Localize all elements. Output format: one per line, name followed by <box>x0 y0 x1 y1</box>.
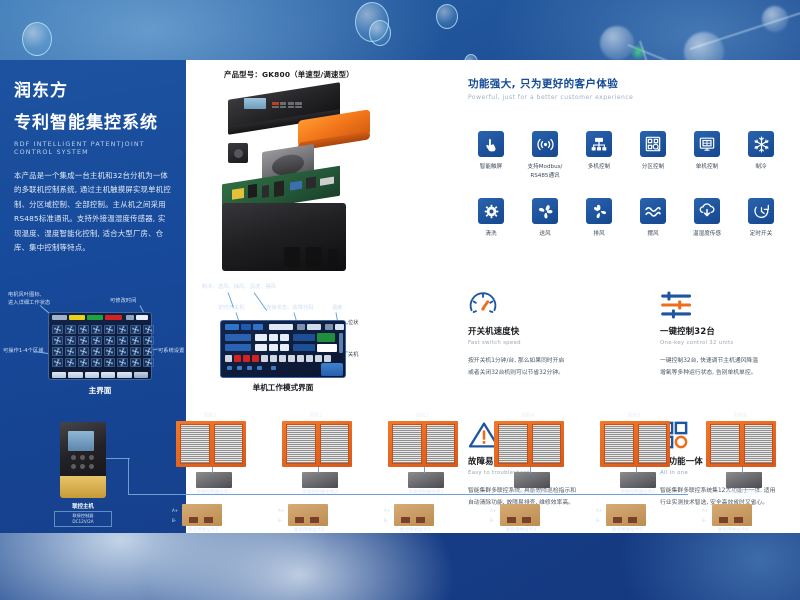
callout-unit-temp: 温度 <box>332 305 343 313</box>
callout-unit-level: 位状 <box>348 320 359 328</box>
fan-cell[interactable] <box>104 325 115 334</box>
feature-icon-clean[interactable]: 清洗 <box>468 198 514 239</box>
callout-main-right: 可系统设置 <box>158 348 184 356</box>
fan-cell[interactable] <box>143 347 154 356</box>
features-subtitle: Powerful, just for a better customer exp… <box>468 94 784 101</box>
fan-cell[interactable] <box>78 358 89 367</box>
status-chip <box>307 324 321 330</box>
segment[interactable] <box>324 355 331 362</box>
host-caption: 联控主机 <box>52 502 114 510</box>
fan-cell[interactable] <box>78 347 89 356</box>
fan-cell[interactable] <box>65 336 76 345</box>
fan-cell[interactable] <box>117 347 128 356</box>
address-card <box>500 504 540 526</box>
card-label: 集控用地址卡4 <box>488 528 554 534</box>
status-ok-badge <box>317 333 335 342</box>
brand-name: 润东方 <box>14 76 172 101</box>
feature-title: 一键控制32台 <box>660 325 800 337</box>
controller-label: 单速控制器主机4 <box>494 490 570 496</box>
segment[interactable] <box>261 355 268 362</box>
terminal-b: B- <box>172 518 176 523</box>
icon-row-2: 清洗 送风 <box>468 198 784 239</box>
fan-exhaust-icon <box>586 198 612 224</box>
screen-button[interactable] <box>117 372 131 378</box>
feature-description: 按开关机1分钟/台, 那么如果同时开启 或者关闭32台机则可以节省32分钟。 <box>468 355 638 379</box>
main-screen-figure: 电机风叶图标, 进入详细工作状态 可修改时间 可操作1-4个区域 可系统设置 <box>0 290 186 410</box>
fan-cell[interactable] <box>91 358 102 367</box>
product-base-enclosure <box>222 203 346 271</box>
timer-button[interactable] <box>225 344 251 351</box>
host-controller <box>60 422 106 498</box>
icon-label: 排风 <box>576 230 622 239</box>
unit-controller <box>302 472 338 488</box>
feature-title: 开关机速度快 <box>468 325 638 337</box>
status-field <box>269 324 293 330</box>
terminal-a: A+ <box>278 508 284 513</box>
feature-block-onekey-control: 一键控制32台 One-key control 32 units 一键控制32台… <box>660 285 800 379</box>
fan-cell[interactable] <box>104 336 115 345</box>
gear-clean-icon <box>478 198 504 224</box>
page-subtitle-en: RDF INTELLIGENT PATENTJOINT CONTROL SYST… <box>14 140 172 156</box>
fan-cell[interactable] <box>104 358 115 367</box>
wireless-signal-icon <box>532 131 558 157</box>
dot <box>227 366 232 370</box>
value-field <box>269 334 278 341</box>
terminal-b: B- <box>596 518 600 523</box>
feature-title-en: One-key control 32 units <box>660 340 800 346</box>
fan-label: 风机6 <box>710 412 770 419</box>
host-base <box>60 476 106 498</box>
callout-unit-power: 关机 <box>348 352 359 360</box>
mode-button[interactable] <box>225 324 239 330</box>
fan-label: 风机5 <box>604 412 664 419</box>
icon-label: 定时开关 <box>738 230 784 239</box>
icon-label: 温湿度传感 <box>684 230 730 239</box>
icon-label: 智能触屏 <box>468 163 514 172</box>
unit-mode-screen[interactable] <box>220 320 346 378</box>
fan-cell[interactable] <box>65 347 76 356</box>
segment[interactable] <box>243 355 250 362</box>
callout-unit-modes: 制冷、送风、抽风、清洗、摆风 <box>202 284 276 292</box>
feature-icon-cooling[interactable]: 制冷 <box>738 131 784 180</box>
main-interface-screen[interactable] <box>48 312 152 380</box>
terminal-a: A+ <box>702 508 708 513</box>
timer-button[interactable] <box>225 334 251 341</box>
fan-cell[interactable] <box>65 358 76 367</box>
terminal-a: A+ <box>490 508 496 513</box>
segment[interactable] <box>279 355 286 362</box>
status-bar <box>49 313 151 322</box>
screen-button[interactable] <box>134 372 148 378</box>
fan-cell[interactable] <box>52 325 63 334</box>
feature-icon-single-control[interactable]: 单机控制 <box>684 131 730 180</box>
card-label: 集控用地址卡1 <box>170 528 236 534</box>
segment[interactable] <box>234 355 241 362</box>
product-sensor-lens <box>234 149 243 158</box>
screen-button[interactable] <box>101 372 115 378</box>
snowflake-icon <box>748 131 774 157</box>
callout-unit-timer: 定时开关机 <box>218 305 244 313</box>
fan-cell[interactable] <box>78 336 89 345</box>
bus-drop <box>128 458 129 495</box>
unit-controller <box>620 472 656 488</box>
controller-label: 单速控制器主机5 <box>600 490 676 496</box>
terminal-b: B- <box>490 518 494 523</box>
product-exploded-view <box>200 85 390 280</box>
hero-block: 润东方 专利智能集控系统 RDF INTELLIGENT PATENTJOINT… <box>0 60 186 256</box>
fan-cell[interactable] <box>91 347 102 356</box>
icon-label: 送风 <box>522 230 568 239</box>
fan-cell[interactable] <box>130 347 141 356</box>
feature-block-fast-switch: 开关机速度快 Fast switch speed 按开关机1分钟/台, 那么如果… <box>468 285 638 379</box>
icon-label: 摆风 <box>630 230 676 239</box>
fan-cell[interactable] <box>91 325 102 334</box>
host-spec: 联接控制器 DC12V/2A <box>54 511 112 527</box>
screen-button[interactable] <box>85 372 99 378</box>
card-label: 集控用地址卡2 <box>276 528 342 534</box>
icon-label: 制冷 <box>738 163 784 172</box>
card-label: 集控用地址卡3 <box>382 528 448 534</box>
controller-label: 单速控制器主机2 <box>282 490 358 496</box>
callout-unit-status: 连接状态、故障代码 <box>266 305 314 313</box>
icon-label: 单机控制 <box>684 163 730 172</box>
fan-cell[interactable] <box>143 325 154 334</box>
features-title: 功能强大, 只为更好的客户体验 <box>468 76 784 91</box>
dot <box>271 366 276 370</box>
value-field <box>255 344 267 351</box>
controller-label: 单速控制器主机3 <box>388 490 464 496</box>
humidity-sensor-icon <box>694 198 720 224</box>
status-chip <box>297 324 305 330</box>
address-card <box>712 504 752 526</box>
fan-cell[interactable] <box>130 325 141 334</box>
hero-description: 本产品是一个集成一台主机和32台分机为一体的多联机控制系统, 通过主机触摸屏实现… <box>14 169 172 256</box>
product-model-label: 产品型号：GK800（单速型/调速型） <box>224 69 354 80</box>
feature-icon-humidity-sensor[interactable]: 温湿度传感 <box>684 198 730 239</box>
icon-label: 分区控制 <box>630 163 676 172</box>
controller-label: 单速控制器主机1 <box>176 490 252 496</box>
zone-control-icon <box>640 131 666 157</box>
fan-cell[interactable] <box>117 336 128 345</box>
segment[interactable] <box>225 355 232 362</box>
terminal-b: B- <box>384 518 388 523</box>
unit-controller <box>514 472 550 488</box>
fan-cell[interactable] <box>143 358 154 367</box>
speedometer-icon <box>468 285 638 319</box>
fan-cell[interactable] <box>143 336 154 345</box>
mode-button[interactable] <box>241 324 251 330</box>
fan-label: 风机1 <box>180 412 240 419</box>
feature-description: 一键控制32台, 快速调节主机通风降温 增氧等多种运行状态, 告别单机单控。 <box>660 355 800 379</box>
terminal-b: B- <box>702 518 706 523</box>
fan-cell[interactable] <box>91 336 102 345</box>
screen-button[interactable] <box>68 372 82 378</box>
fan-cell[interactable] <box>52 358 63 367</box>
address-card <box>606 504 646 526</box>
product-lcd <box>244 98 266 109</box>
level-slider[interactable] <box>339 333 343 353</box>
unit-controller <box>726 472 762 488</box>
fan-cell[interactable] <box>65 325 76 334</box>
fan-cell[interactable] <box>52 336 63 345</box>
terminal-a: A+ <box>596 508 602 513</box>
segment[interactable] <box>306 355 313 362</box>
product-keypad <box>272 102 302 108</box>
fan-label: 风机3 <box>392 412 452 419</box>
feature-icon-supply-air[interactable]: 送风 <box>522 198 568 239</box>
fan-cell[interactable] <box>78 325 89 334</box>
feature-icon-modbus[interactable]: 支持Modbus/ RS485通讯 <box>522 131 568 180</box>
dot <box>247 366 252 370</box>
fan-label: 风机2 <box>286 412 346 419</box>
fan-cell[interactable] <box>117 325 128 334</box>
segment[interactable] <box>288 355 295 362</box>
address-card <box>288 504 328 526</box>
segment[interactable] <box>270 355 277 362</box>
segment[interactable] <box>315 355 322 362</box>
value-field <box>269 344 278 351</box>
touchscreen-icon <box>478 131 504 157</box>
single-unit-control-icon <box>694 131 720 157</box>
unit-screen-figure: 制冷、送风、抽风、清洗、摆风 定时开关机 连接状态、故障代码 温度 位状 关机 <box>196 282 446 402</box>
screen-bottom-buttons[interactable] <box>49 370 151 381</box>
value-display <box>317 344 337 352</box>
callout-main-topright: 可修改时间 <box>110 298 136 306</box>
fan-cell[interactable] <box>104 347 115 356</box>
controller-label: 单速控制器主机6 <box>706 490 782 496</box>
fan-supply-icon <box>532 198 558 224</box>
screen-button[interactable] <box>52 372 66 378</box>
unit-controller <box>408 472 444 488</box>
feature-icon-exhaust-air[interactable]: 排风 <box>576 198 622 239</box>
segment[interactable] <box>297 355 304 362</box>
multi-unit-control-icon <box>586 131 612 157</box>
mode-button[interactable] <box>253 324 263 330</box>
card-label: 集控用地址卡6 <box>700 528 766 534</box>
status-chip <box>325 324 333 330</box>
icon-label: 多机控制 <box>576 163 622 172</box>
icon-row-1: 智能触屏 支持Modbus/ RS485通讯 <box>468 131 784 180</box>
page-title: 专利智能集控系统 <box>14 108 172 133</box>
host-link <box>106 458 130 459</box>
features-section: 功能强大, 只为更好的客户体验 Powerful, just for a bet… <box>468 76 784 239</box>
value-field <box>255 334 267 341</box>
system-diagram: 联控主机 联接控制器 DC12V/2A 风机1 单速控制器主机1 A+ B- 集… <box>0 408 800 533</box>
icon-label: 清洗 <box>468 230 514 239</box>
temp-readout <box>335 324 344 330</box>
info-field <box>293 344 315 351</box>
feature-title-en: Fast switch speed <box>468 340 638 346</box>
fan-grid[interactable] <box>49 322 151 370</box>
main-screen-caption: 主界面 <box>48 385 152 396</box>
fan-cell[interactable] <box>130 358 141 367</box>
feature-icon-multi-control[interactable]: 多机控制 <box>576 131 622 180</box>
timer-switch-icon <box>748 198 774 224</box>
feature-icon-zone-control[interactable]: 分区控制 <box>630 131 676 180</box>
icon-label: 支持Modbus/ RS485通讯 <box>522 163 568 180</box>
feature-icon-touchscreen[interactable]: 智能触屏 <box>468 131 514 180</box>
fan-label: 风机4 <box>498 412 558 419</box>
wave-swing-icon <box>640 198 666 224</box>
address-card <box>394 504 434 526</box>
fan-cell[interactable] <box>117 358 128 367</box>
value-field <box>280 344 289 351</box>
unit-controller <box>196 472 232 488</box>
info-field <box>293 334 315 341</box>
unit-screen-caption: 单机工作模式界面 <box>220 382 346 393</box>
terminal-a: A+ <box>384 508 390 513</box>
address-card <box>182 504 222 526</box>
feature-icon-timer-switch[interactable]: 定时开关 <box>738 198 784 239</box>
fan-cell[interactable] <box>52 347 63 356</box>
feature-icon-swing[interactable]: 摆风 <box>630 198 676 239</box>
power-off-button[interactable] <box>321 363 343 376</box>
sliders-icon <box>660 285 800 319</box>
terminal-a: A+ <box>172 508 178 513</box>
card-label: 集控用地址卡5 <box>594 528 660 534</box>
dot <box>257 366 262 370</box>
fan-cell[interactable] <box>130 336 141 345</box>
terminal-b: B- <box>278 518 282 523</box>
value-field <box>280 334 289 341</box>
host-screen <box>68 431 94 451</box>
dot <box>237 366 242 370</box>
segment[interactable] <box>252 355 259 362</box>
